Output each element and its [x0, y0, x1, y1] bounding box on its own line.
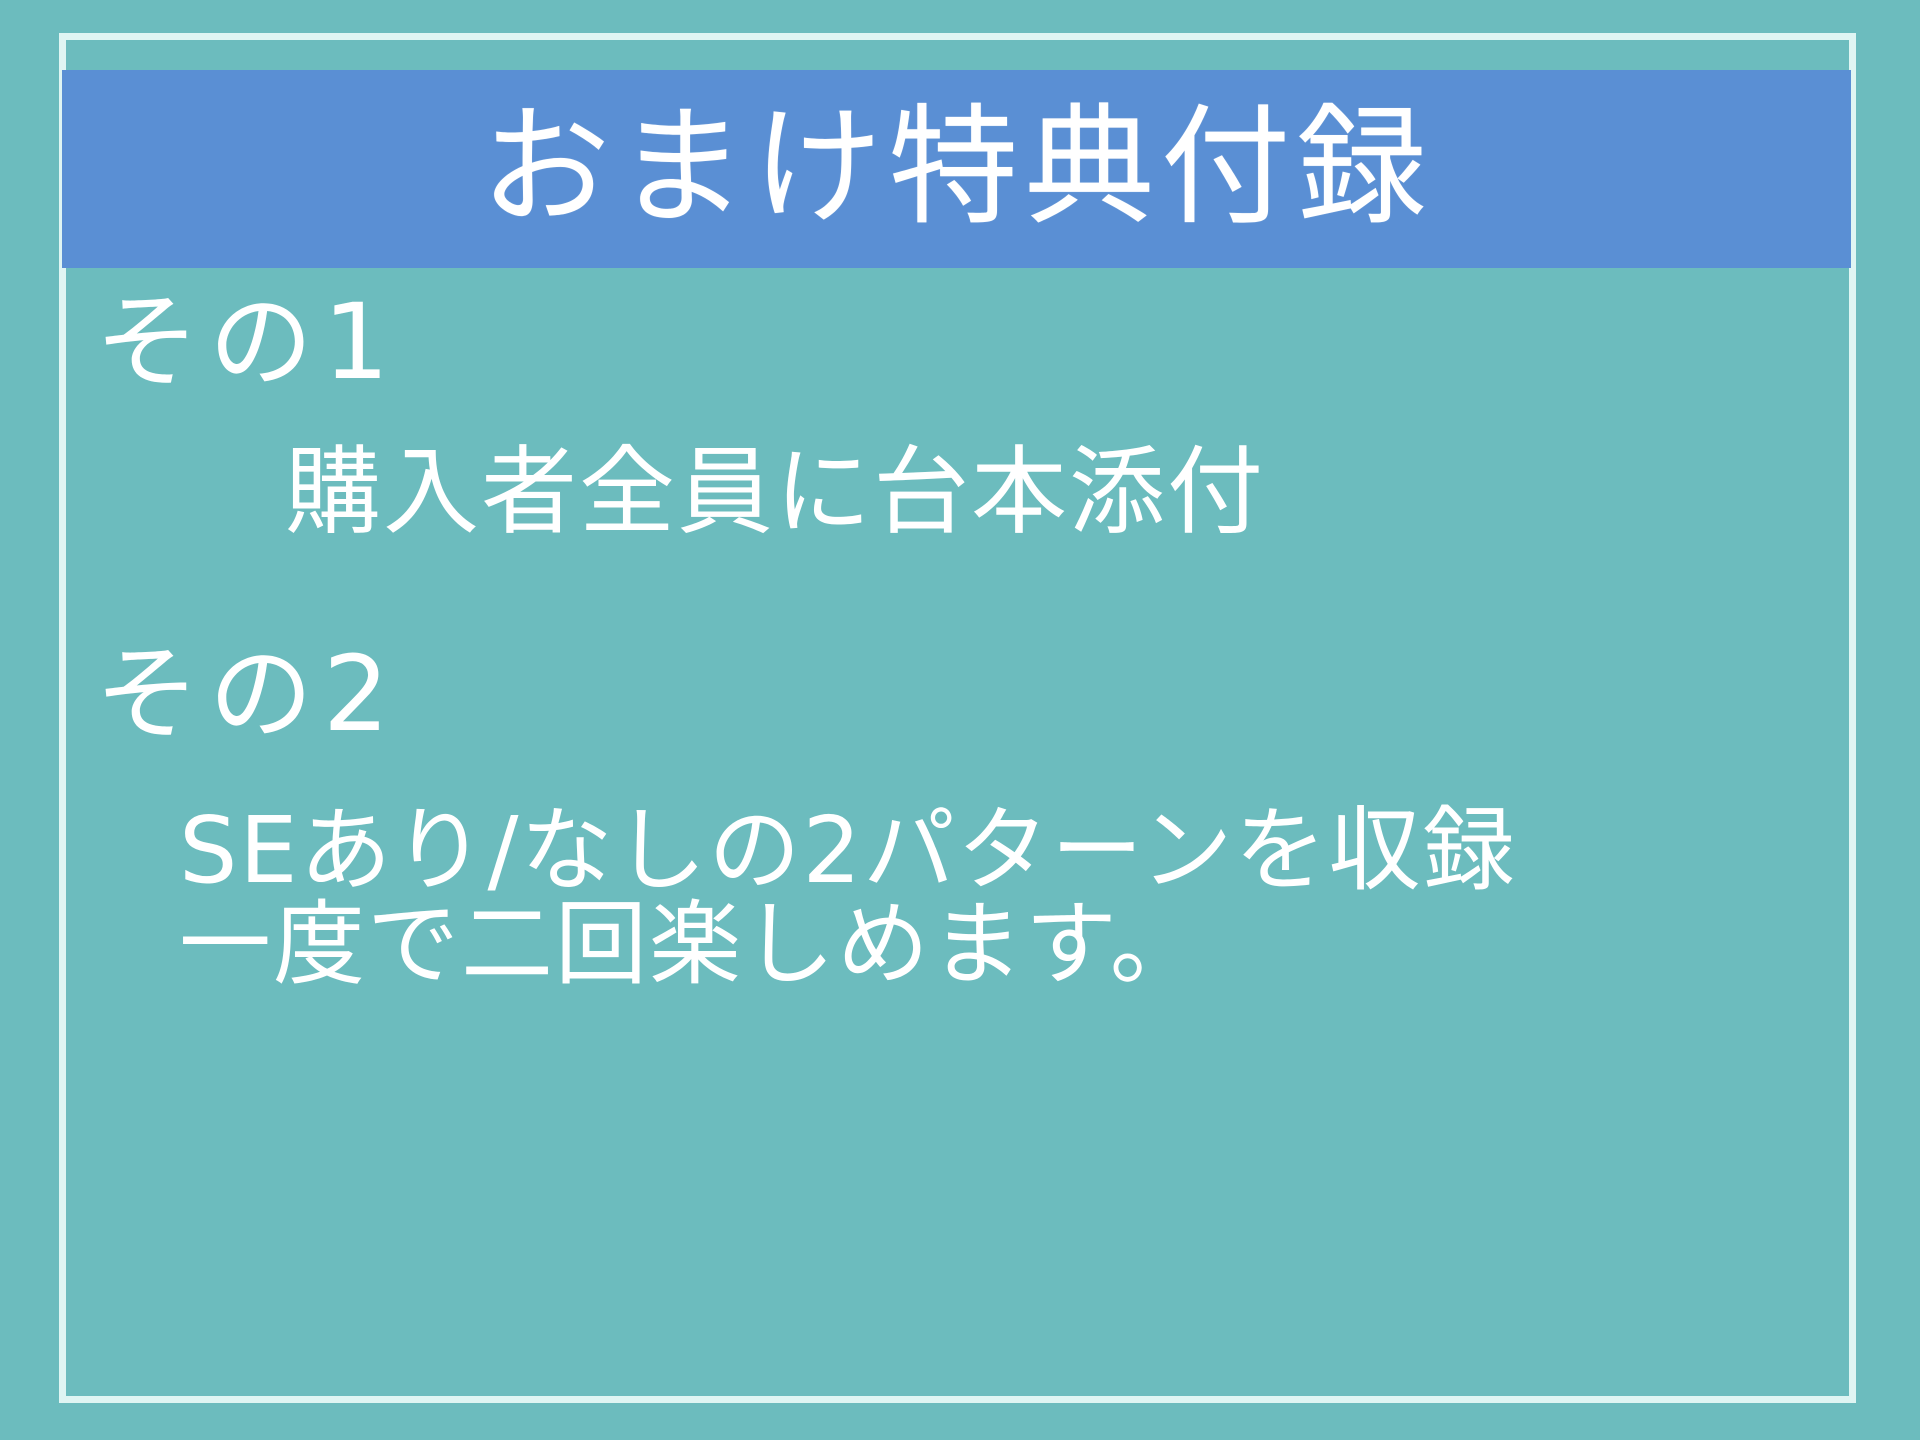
bonus-item-2-detail: SEあり/なしの2パターンを収録 一度で二回楽しめます。 [179, 804, 1851, 992]
page-title: おまけ特典付録 [480, 102, 1432, 232]
bonus-list: その1 購入者全員に台本添付 その2 SEあり/なしの2パターンを収録 一度で二… [67, 268, 1851, 1403]
slide-canvas: おまけ特典付録 その1 購入者全員に台本添付 その2 SEあり/なしの2パターン… [0, 0, 1920, 1440]
bonus-item-2: その2 SEあり/なしの2パターンを収録 一度で二回楽しめます。 [67, 638, 1851, 992]
bonus-item-2-line-2: 一度で二回楽しめます。 [179, 898, 1851, 992]
bonus-item-2-label: その2 [95, 638, 1851, 750]
bonus-item-1-label: その1 [95, 286, 1851, 398]
bonus-item-2-line-1: SEあり/なしの2パターンを収録 [179, 804, 1851, 898]
bonus-item-1-line-1: 購入者全員に台本添付 [285, 444, 1851, 542]
bonus-item-1: その1 購入者全員に台本添付 [67, 286, 1851, 542]
bonus-item-1-detail: 購入者全員に台本添付 [285, 444, 1851, 542]
title-band: おまけ特典付録 [62, 70, 1851, 268]
